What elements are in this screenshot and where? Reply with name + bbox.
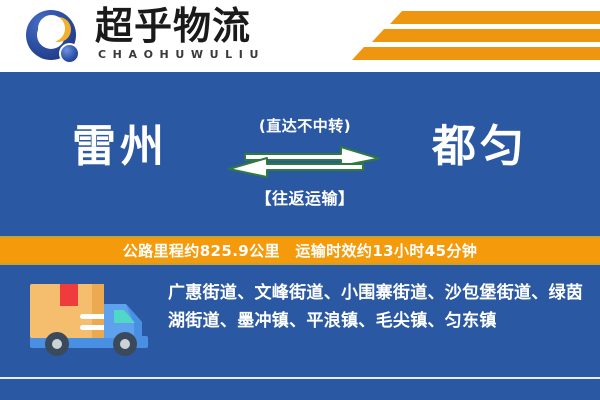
stripe-3 bbox=[352, 47, 600, 60]
delivery-truck-icon bbox=[26, 278, 156, 364]
poster-header: 超乎物流 CHAOHUWULIU bbox=[0, 0, 600, 72]
company-name: 超乎物流 bbox=[95, 5, 251, 47]
distance-duration-text: 公路里程约825.9公里 运输时效约13小时45分钟 bbox=[123, 240, 478, 261]
coverage-section: 广惠街道、文峰街道、小围寨街道、沙包堡街道、绿茵湖街道、墨冲镇、平浪镇、毛尖镇、… bbox=[0, 265, 600, 378]
orange-speed-stripes-icon bbox=[340, 8, 600, 64]
company-logo-icon bbox=[26, 10, 84, 66]
stripe-2 bbox=[372, 29, 600, 42]
route-note-direct: (直达不中转) bbox=[225, 115, 385, 136]
destination-city: 都匀 bbox=[380, 122, 580, 172]
route-section: 雷州 (直达不中转) 【往返运输】 都匀 bbox=[0, 75, 600, 236]
logo-crescent-cutout bbox=[38, 15, 65, 42]
stripe-1 bbox=[390, 11, 600, 24]
route-note-roundtrip: 【往返运输】 bbox=[225, 185, 385, 209]
distance-duration-band: 公路里程约825.9公里 运输时效约13小时45分钟 bbox=[0, 236, 600, 265]
origin-city: 雷州 bbox=[20, 122, 220, 172]
bidirectional-route-arrows-icon bbox=[228, 145, 380, 179]
company-pinyin: CHAOHUWULIU bbox=[98, 48, 265, 61]
coverage-areas-text: 广惠街道、文峰街道、小围寨街道、沙包堡街道、绿茵湖街道、墨冲镇、平浪镇、毛尖镇、… bbox=[168, 279, 586, 335]
bottom-divider bbox=[0, 377, 600, 379]
logo-accent-dot bbox=[59, 43, 80, 64]
logistics-route-poster: 超乎物流 CHAOHUWULIU 雷州 (直达不中转) 【往返运输】 都匀 公路… bbox=[0, 0, 600, 400]
